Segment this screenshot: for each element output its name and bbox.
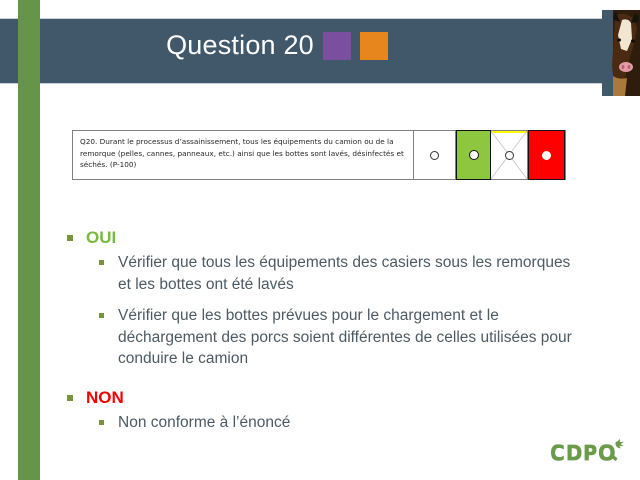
radio-selected-icon (542, 151, 551, 160)
cow-photo (602, 10, 640, 96)
orange-square-icon (360, 32, 388, 60)
list-item-text: Vérifier que tous les équipements des ca… (118, 254, 570, 293)
purple-square-icon (323, 32, 351, 60)
option-cell-4-red[interactable] (528, 130, 565, 180)
green-accent-stripe (18, 0, 40, 480)
question-text-cell: Q20. Durant le processus d’assainissemen… (73, 131, 414, 179)
body-content: OUI Vérifier que tous les équipements de… (64, 226, 584, 435)
option-cell-2-green[interactable] (456, 130, 491, 180)
list-item: Vérifier que les bottes prévues pour le … (64, 305, 584, 370)
bullet-square-icon (67, 235, 73, 241)
radio-circle-icon (469, 150, 479, 160)
cdpq-logo (542, 438, 626, 468)
list-item: Vérifier que tous les équipements des ca… (64, 252, 584, 295)
option-cell-3-crossed[interactable] (491, 131, 528, 179)
section-heading-oui: OUI (64, 226, 584, 250)
spacer (64, 297, 584, 305)
section-heading-non: NON (64, 386, 584, 410)
list-item-text: Non conforme à l’énoncé (118, 414, 290, 431)
option-cell-1[interactable] (414, 131, 456, 179)
bullet-square-icon (99, 420, 104, 425)
radio-circle-icon (430, 151, 439, 160)
list-item-text: Vérifier que les bottes prévues pour le … (118, 307, 572, 367)
page-title: Question 20 (0, 28, 640, 62)
section-heading-label: OUI (86, 228, 116, 247)
question-table: Q20. Durant le processus d’assainissemen… (72, 130, 566, 180)
spacer (64, 372, 584, 386)
bullet-square-icon (67, 395, 73, 401)
bullet-square-icon (99, 260, 104, 265)
section-heading-label: NON (86, 388, 124, 407)
list-item: Non conforme à l’énoncé (64, 412, 584, 434)
slide-canvas: Question 20 Q20. Durant le processus d’a… (0, 0, 640, 480)
bullet-square-icon (99, 313, 104, 318)
page-title-text: Question 20 (166, 30, 314, 60)
radio-circle-icon (505, 151, 514, 160)
